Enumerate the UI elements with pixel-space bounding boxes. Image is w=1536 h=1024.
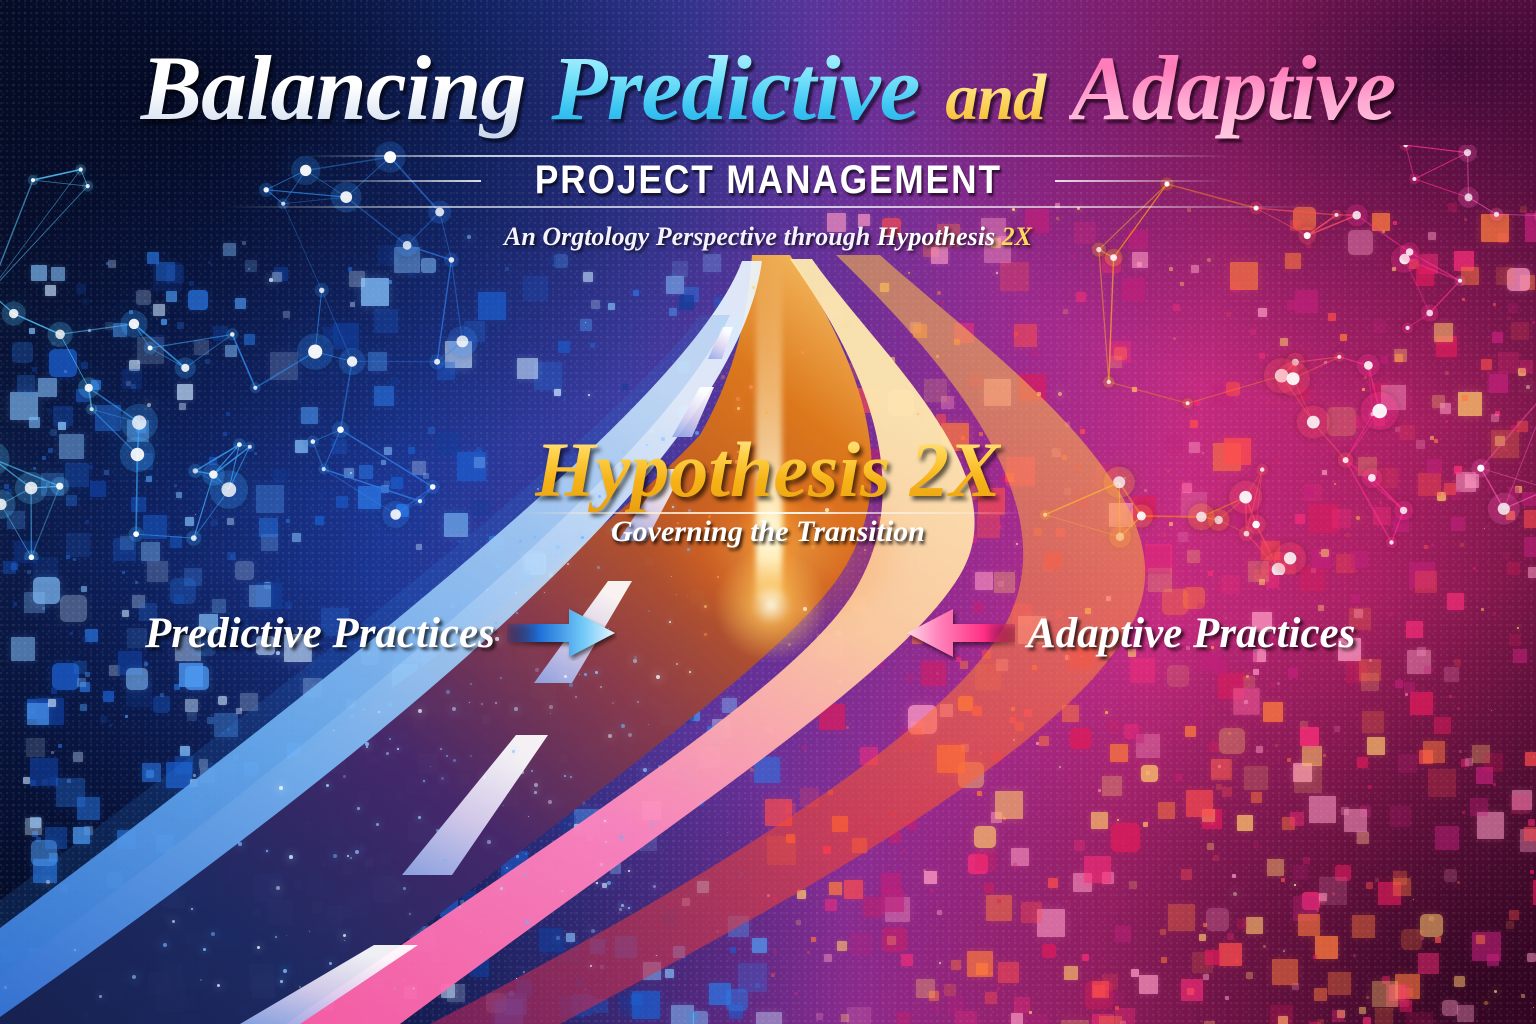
arrow-left-icon: [905, 605, 1015, 661]
adaptive-practices-label: Adaptive Practices: [905, 605, 1355, 661]
center-subtitle: Governing the Transition: [0, 515, 1536, 549]
page-title: Balancing Predictive and Adaptive: [0, 42, 1536, 136]
adaptive-practices-text: Adaptive Practices: [1027, 609, 1355, 658]
title-word-predictive: Predictive: [549, 37, 921, 139]
predictive-practices-label: Predictive Practices: [145, 605, 617, 661]
tagline-lead: An Orgtology Perspective through: [504, 222, 877, 251]
center-title: Hypothesis 2X: [0, 425, 1536, 515]
center-divider: [520, 512, 1030, 514]
predictive-practices-text: Predictive Practices: [145, 609, 495, 658]
tagline: An Orgtology Perspective through Hypothe…: [0, 222, 1536, 252]
subheading-dash-right: [1055, 180, 1225, 182]
arrow-right-icon: [507, 605, 617, 661]
title-divider-top: [305, 155, 1230, 157]
title-word-adaptive: Adaptive: [1069, 37, 1397, 139]
subheading: PROJECT MANAGEMENT: [534, 158, 1001, 203]
title-word-balancing: Balancing: [139, 37, 528, 139]
title-divider-bottom: [225, 206, 1315, 208]
center-title-text: Hypothesis 2X: [535, 426, 1001, 513]
title-word-and: and: [943, 61, 1047, 134]
tagline-strong: Hypothesis: [877, 222, 1002, 251]
subheading-dash-left: [311, 180, 481, 182]
subheading-row: PROJECT MANAGEMENT: [0, 158, 1536, 203]
tagline-gold: 2X: [1002, 222, 1032, 251]
poster-canvas: Balancing Predictive and Adaptive PROJEC…: [0, 0, 1536, 1024]
